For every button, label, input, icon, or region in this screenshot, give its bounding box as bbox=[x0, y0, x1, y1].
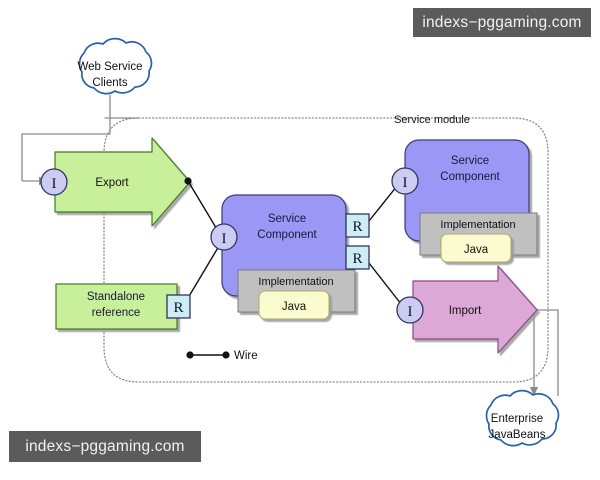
java-label-center: Java bbox=[282, 301, 307, 313]
service-component-center-label-line2: Component bbox=[257, 229, 317, 241]
sca-service-module-diagram: Service module Export Standalone referen… bbox=[0, 0, 600, 480]
watermark-top: indexs−pggaming.com bbox=[413, 8, 591, 37]
diagram-canvas: Service module Export Standalone referen… bbox=[0, 0, 600, 480]
port-import-interface-letter: I bbox=[408, 304, 413, 320]
legend-wire-label: Wire bbox=[234, 350, 258, 362]
web-service-clients-label-line2: Clients bbox=[92, 77, 127, 89]
implementation-center-label: Implementation bbox=[258, 276, 333, 288]
port-center-interface-letter: I bbox=[222, 231, 227, 247]
export-arrow-label: Export bbox=[95, 177, 129, 189]
import-arrow-label: Import bbox=[449, 305, 482, 317]
port-center-reference-top-letter: R bbox=[352, 219, 362, 235]
service-component-right-label-line1: Service bbox=[451, 155, 489, 167]
port-standalone-reference[interactable]: R bbox=[167, 295, 190, 318]
port-center-reference-bottom-letter: R bbox=[352, 251, 362, 267]
port-import-interface[interactable]: I bbox=[397, 297, 423, 323]
port-right-component-interface[interactable]: I bbox=[392, 168, 418, 194]
port-center-interface[interactable]: I bbox=[211, 224, 237, 250]
port-export-interface[interactable]: I bbox=[41, 169, 67, 195]
enterprise-javabeans-label-line1: Enterprise bbox=[491, 413, 543, 425]
legend-wire bbox=[186, 351, 229, 358]
port-center-reference-bottom[interactable]: R bbox=[346, 246, 369, 269]
enterprise-javabeans-label-line2: JavaBeans bbox=[489, 429, 546, 441]
java-label-right: Java bbox=[464, 244, 489, 256]
service-component-center-label-line1: Service bbox=[268, 213, 306, 225]
service-module-label: Service module bbox=[394, 114, 470, 126]
service-component-right-label-line2: Component bbox=[440, 171, 500, 183]
port-export-interface-letter: I bbox=[52, 176, 57, 192]
standalone-reference-label-line2: reference bbox=[92, 307, 141, 319]
connector-import-to-ejb bbox=[534, 310, 558, 396]
web-service-clients-label-line1: Web Service bbox=[78, 61, 143, 73]
port-right-component-interface-letter: I bbox=[403, 175, 408, 191]
implementation-right-label: Implementation bbox=[440, 219, 515, 231]
port-standalone-reference-letter: R bbox=[173, 300, 183, 316]
port-center-reference-top[interactable]: R bbox=[346, 214, 369, 237]
standalone-reference-label-line1: Standalone bbox=[87, 291, 145, 303]
watermark-bottom: indexs−pggaming.com bbox=[9, 431, 201, 462]
